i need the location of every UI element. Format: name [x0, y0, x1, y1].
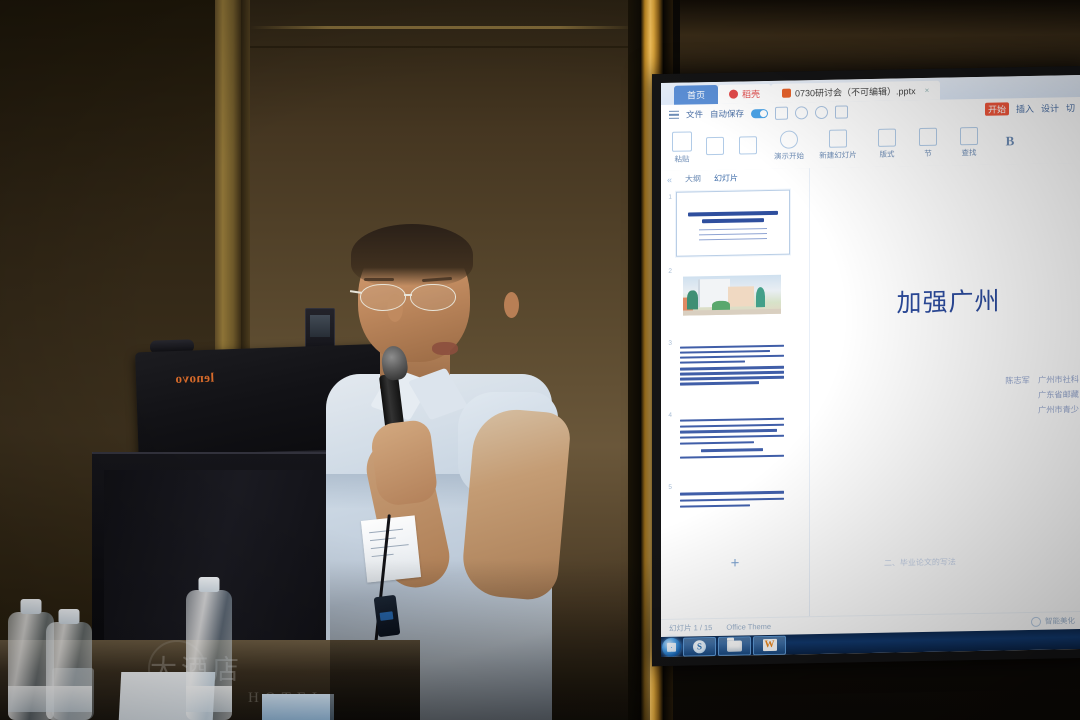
new-slide-button[interactable]: 新建幻灯片 [814, 129, 862, 161]
tab-docer[interactable]: 稻壳 [718, 84, 771, 104]
list-item[interactable]: 1 [663, 189, 807, 257]
slide-thumbnail-3[interactable] [676, 336, 788, 401]
name-badge [361, 515, 421, 582]
glasses-icon [358, 284, 474, 310]
water-bottle [46, 622, 92, 720]
find-button[interactable]: 查找 [945, 126, 993, 158]
tab-docer-label: 稻壳 [742, 87, 760, 100]
panel-tab-slides[interactable]: 幻灯片 [714, 173, 738, 184]
ribbon-tab-design[interactable]: 设计 [1041, 101, 1059, 114]
list-item[interactable]: 4 [663, 407, 807, 473]
presenter-ear-right [504, 292, 519, 318]
tab-pptx-file[interactable]: 0730研讨会（不可编辑）.pptx × [771, 81, 940, 103]
layout-button[interactable]: 版式 [863, 128, 911, 160]
ribbon-tab-start[interactable]: 开始 [985, 102, 1009, 115]
collapse-panel-icon[interactable]: « [667, 174, 672, 184]
conference-room-photo: 首页 稻壳 0730研讨会（不可编辑）.pptx × 文件 自动保存 [0, 0, 1080, 720]
table-blue-box [262, 694, 334, 720]
new-slide-icon [829, 129, 847, 147]
section-button[interactable]: 节 [912, 127, 944, 159]
docer-icon [729, 90, 738, 99]
current-slide[interactable]: 加强广州 陈志军 广州市社科 广东省邮藏 广州市青少 二、毕业论文的写法 [814, 171, 1080, 595]
find-label: 查找 [962, 146, 977, 157]
presenter-mouth [432, 342, 458, 355]
thumb-number: 5 [663, 482, 672, 491]
list-item[interactable]: 3 [663, 335, 807, 401]
thumb-number: 1 [663, 192, 672, 201]
taskbar-item-wps[interactable]: W [753, 635, 786, 655]
presenter-arm-right [460, 406, 572, 602]
format-painter-button[interactable] [732, 136, 764, 157]
door-top-seam-shadow [250, 46, 636, 48]
photo-tree-right [756, 287, 766, 307]
editor-body: « 大纲 幻灯片 1 [661, 163, 1080, 620]
glasses-lens-right [410, 284, 456, 311]
start-presentation-label: 演示开始 [774, 150, 804, 162]
presenter-hand [369, 419, 439, 508]
glasses-lens-left [360, 284, 406, 311]
new-slide-label: 新建幻灯片 [819, 149, 857, 161]
thumb-sub-line [699, 238, 766, 241]
glasses-bridge [404, 294, 412, 296]
slide-thumbnail-1[interactable] [676, 190, 790, 257]
layout-label: 版式 [880, 148, 895, 159]
tab-home-label: 首页 [687, 88, 705, 101]
autosave-toggle[interactable] [751, 108, 768, 117]
save-icon[interactable] [775, 106, 788, 119]
slides-panel: « 大纲 幻灯片 1 [661, 168, 810, 620]
presenter-hair [351, 224, 473, 286]
undo-icon[interactable] [795, 106, 808, 119]
format-painter-icon [739, 136, 757, 154]
play-icon [780, 130, 798, 148]
ribbon-tab-strip: 开始 插入 设计 切 [985, 101, 1075, 116]
section-label: 节 [924, 147, 932, 158]
close-icon[interactable]: × [925, 86, 930, 95]
wireless-mic-pack [374, 595, 401, 637]
start-button-icon[interactable] [662, 637, 681, 656]
slide-thumbnail-list[interactable]: 1 2 [661, 185, 809, 620]
taskbar-item-explorer[interactable] [718, 636, 751, 656]
paste-label: 粘贴 [675, 153, 690, 164]
layout-icon [878, 128, 896, 146]
menu-icon[interactable] [669, 109, 679, 121]
thumb-title-line-2 [702, 218, 765, 223]
start-presentation-button[interactable]: 演示开始 [765, 130, 813, 162]
section-icon [919, 127, 937, 145]
pptx-file-icon [782, 89, 791, 98]
presentation-display: 首页 稻壳 0730研讨会（不可编辑）.pptx × 文件 自动保存 [652, 66, 1080, 666]
cut-icon [706, 137, 724, 155]
thumb-number: 4 [663, 410, 672, 419]
photo-tree-left [687, 291, 699, 310]
slide-thumbnail-2[interactable] [676, 264, 788, 329]
sogou-input-icon: S [693, 640, 706, 653]
slide-title[interactable]: 加强广州 [814, 280, 1080, 321]
add-slide-button[interactable]: + [663, 551, 807, 573]
glasses-temple [350, 290, 362, 293]
screen: 首页 稻壳 0730研讨会（不可编辑）.pptx × 文件 自动保存 [661, 75, 1080, 657]
bold-icon: B [1006, 133, 1015, 149]
print-icon[interactable] [835, 105, 848, 118]
photo-ground [683, 309, 782, 316]
slide-authors[interactable]: 陈志军 广州市社科 广东省邮藏 广州市青少 [810, 372, 1080, 423]
beautify-icon[interactable] [1031, 616, 1041, 626]
door-right-edge [628, 0, 642, 720]
list-item[interactable]: 5 [663, 479, 807, 545]
ribbon-tab-transition[interactable]: 切 [1066, 101, 1075, 114]
door-top-seam [250, 26, 636, 29]
bold-button[interactable]: B [994, 133, 1026, 150]
cut-button[interactable] [699, 137, 731, 158]
photo-building-beige [728, 287, 754, 307]
laptop-brand-logo: lenovo [175, 370, 215, 387]
file-menu-label[interactable]: 文件 [686, 108, 703, 120]
presenter-eyebrow-left [364, 278, 394, 281]
thumb-number: 3 [663, 338, 672, 347]
ribbon-tab-insert[interactable]: 插入 [1016, 101, 1034, 114]
folder-icon [727, 640, 742, 651]
wps-office-icon: W [763, 639, 777, 651]
water-bottle [186, 590, 232, 720]
status-right-group: 智能美化 [1031, 615, 1075, 627]
slide-counter: 幻灯片 1 / 15 [669, 622, 712, 634]
panel-tab-outline[interactable]: 大纲 [685, 173, 701, 184]
tab-home[interactable]: 首页 [674, 85, 718, 105]
slide-thumbnail-5[interactable] [676, 480, 788, 545]
thumb-sub-line [699, 228, 766, 231]
slide-footer-text: 二、毕业论文的写法 [884, 556, 956, 568]
beautify-label[interactable]: 智能美化 [1045, 615, 1075, 627]
autosave-label: 自动保存 [710, 107, 744, 120]
thumb-title-line [688, 211, 778, 217]
taskbar-item-sogou[interactable]: S [683, 636, 716, 656]
thumb-number: 2 [663, 266, 672, 275]
list-item[interactable]: 2 [663, 263, 807, 329]
paste-button[interactable]: 粘贴 [666, 131, 698, 165]
slide-thumbnail-4[interactable] [676, 408, 788, 473]
paste-icon [672, 131, 692, 151]
slide-canvas[interactable]: 加强广州 陈志军 广州市社科 广东省邮藏 广州市青少 二、毕业论文的写法 [810, 163, 1080, 617]
thumb-photo [683, 275, 782, 316]
tab-pptx-file-label: 0730研讨会（不可编辑）.pptx [795, 84, 916, 99]
find-icon [960, 126, 978, 144]
redo-icon[interactable] [815, 105, 828, 118]
theme-name[interactable]: Office Theme [726, 622, 771, 632]
thumb-sub-line [699, 233, 766, 236]
